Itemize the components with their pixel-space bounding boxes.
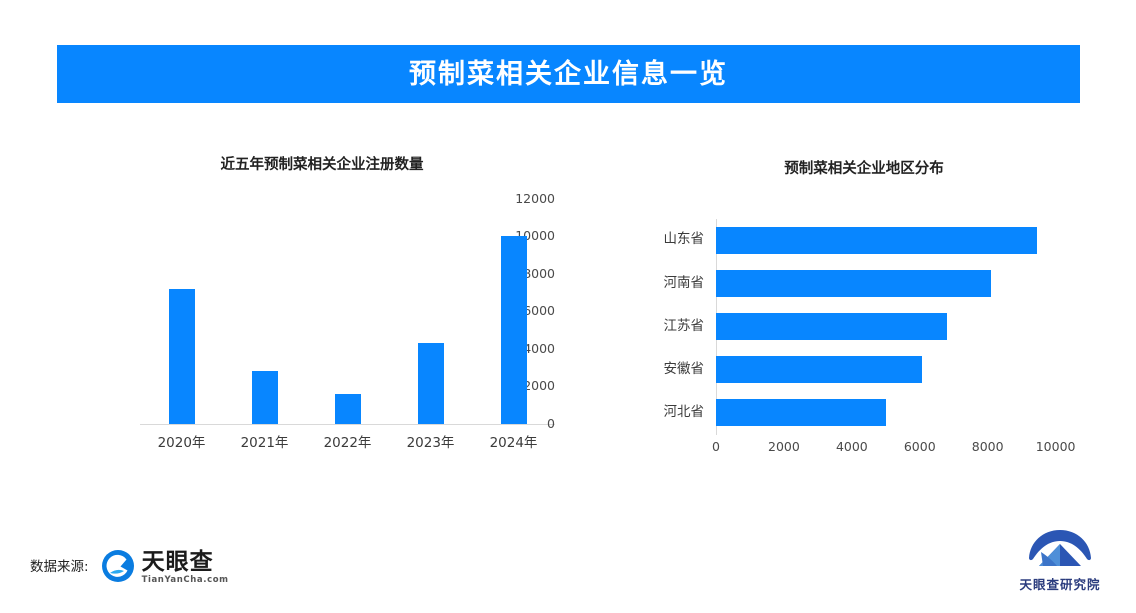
- tianyancha-logo: 天眼查 TianYanCha.com: [101, 549, 229, 587]
- left-chart-bar[interactable]: [335, 394, 361, 424]
- right-chart-bar[interactable]: [716, 313, 947, 340]
- right-chart-row: 河北省: [610, 392, 1080, 434]
- left-chart-bar[interactable]: [418, 343, 444, 424]
- tianyancha-name-en: TianYanCha.com: [142, 575, 229, 585]
- registrations-bar-chart: 120001000080006000400020000 2020年2021年20…: [85, 199, 560, 464]
- left-chart-bar[interactable]: [169, 289, 195, 424]
- right-chart-row: 安徽省: [610, 349, 1080, 391]
- right-chart-x-tick: 6000: [904, 441, 936, 454]
- right-chart-bar[interactable]: [716, 270, 991, 297]
- left-chart-title: 近五年预制菜相关企业注册数量: [54, 158, 590, 173]
- right-chart-bars: 山东省河南省江苏省安徽省河北省: [610, 219, 1080, 435]
- left-chart-bar[interactable]: [252, 371, 278, 424]
- right-chart-bar[interactable]: [716, 356, 922, 383]
- right-chart-bar[interactable]: [716, 227, 1037, 254]
- right-chart-bar-track: [716, 392, 1076, 434]
- page-title: 预制菜相关企业信息一览: [409, 61, 728, 88]
- right-chart-x-tick: 10000: [1036, 441, 1076, 454]
- tianyancha-research-institute-logo-icon: [1027, 528, 1093, 576]
- left-chart-category-label: 2020年: [140, 437, 223, 451]
- right-chart-category-label: 河北省: [610, 406, 716, 420]
- right-chart-bar-track: [716, 219, 1076, 261]
- tianyancha-logo-icon: [101, 549, 135, 587]
- right-chart-x-tick: 4000: [836, 441, 868, 454]
- right-chart-bar-track: [716, 262, 1076, 304]
- left-chart-bar-slot: [140, 199, 223, 424]
- data-source-footer: 数据来源: 天眼查 TianYanCha.com: [30, 548, 229, 588]
- right-chart-bar-track: [716, 349, 1076, 391]
- right-chart-x-axis-ticks: 0200040006000800010000: [716, 441, 1016, 457]
- left-chart-bar[interactable]: [501, 236, 527, 424]
- right-chart-category-label: 山东省: [610, 233, 716, 247]
- right-chart-row: 河南省: [610, 262, 1080, 304]
- right-chart-bar[interactable]: [716, 399, 886, 426]
- left-chart-bar-slot: [389, 199, 472, 424]
- data-source-label: 数据来源:: [30, 561, 89, 575]
- left-chart-x-axis-labels: 2020年2021年2022年2023年2024年: [140, 437, 555, 451]
- research-institute-footer: 天眼查研究院: [1012, 528, 1108, 592]
- right-chart-row: 山东省: [610, 219, 1080, 261]
- left-chart-category-label: 2024年: [472, 437, 555, 451]
- left-chart-category-label: 2023年: [389, 437, 472, 451]
- left-chart-bar-slot: [223, 199, 306, 424]
- right-chart-row: 江苏省: [610, 305, 1080, 347]
- research-institute-name: 天眼查研究院: [1019, 579, 1100, 592]
- right-chart-x-tick: 0: [712, 441, 720, 454]
- right-chart-x-tick: 2000: [768, 441, 800, 454]
- regional-distribution-bar-chart: 山东省河南省江苏省安徽省河北省 0200040006000800010000: [610, 219, 1080, 469]
- tianyancha-wordmark: 天眼查 TianYanCha.com: [142, 550, 229, 585]
- tianyancha-name-cn: 天眼查: [142, 550, 229, 574]
- right-chart-category-label: 江苏省: [610, 320, 716, 334]
- left-chart-category-label: 2021年: [223, 437, 306, 451]
- left-chart-bars: [140, 199, 555, 424]
- left-chart-bar-slot: [306, 199, 389, 424]
- left-chart-axis-line: [140, 424, 555, 425]
- registrations-chart-panel: 近五年预制菜相关企业注册数量 1200010000800060004000200…: [30, 130, 590, 510]
- right-chart-x-tick: 8000: [972, 441, 1004, 454]
- left-chart-category-label: 2022年: [306, 437, 389, 451]
- left-chart-bar-slot: [472, 199, 555, 424]
- header-banner: 预制菜相关企业信息一览: [57, 45, 1080, 103]
- regional-distribution-chart-panel: 预制菜相关企业地区分布 山东省河南省江苏省安徽省河北省 020004000600…: [600, 130, 1120, 510]
- right-chart-title: 预制菜相关企业地区分布: [608, 162, 1120, 177]
- right-chart-category-label: 河南省: [610, 277, 716, 291]
- right-chart-bar-track: [716, 305, 1076, 347]
- right-chart-category-label: 安徽省: [610, 363, 716, 377]
